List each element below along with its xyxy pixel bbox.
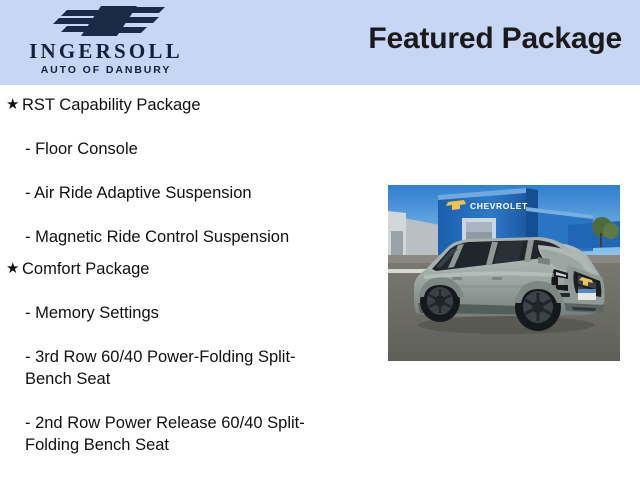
vehicle-photo: CHEVROLET xyxy=(388,185,620,361)
feature-item: - 2nd Row Power Release 60/40 Split-Fold… xyxy=(0,412,375,456)
content-area: ★ RST Capability Package - Floor Console… xyxy=(0,85,640,480)
page-title: Featured Package xyxy=(368,22,622,56)
star-bullet-icon: ★ xyxy=(0,94,22,116)
vehicle-photo-illustration: CHEVROLET xyxy=(388,185,620,361)
feature-item: - Air Ride Adaptive Suspension xyxy=(0,182,375,204)
star-bullet-icon: ★ xyxy=(0,258,22,280)
feature-item: - Floor Console xyxy=(0,138,375,160)
feature-group-label: Comfort Package xyxy=(22,258,375,280)
header-band: INGERSOLL AUTO OF DANBURY Featured Packa… xyxy=(0,0,640,85)
dealer-logo: INGERSOLL AUTO OF DANBURY xyxy=(6,2,206,84)
dealer-name: INGERSOLL xyxy=(6,39,206,63)
winged-speed-emblem-icon xyxy=(41,4,171,38)
svg-text:CHEVROLET: CHEVROLET xyxy=(470,201,528,211)
feature-item: - Magnetic Ride Control Suspension xyxy=(0,226,375,248)
feature-item-label: - Memory Settings xyxy=(22,302,375,324)
feature-item-label: - 2nd Row Power Release 60/40 Split-Fold… xyxy=(22,412,375,456)
feature-group-heading: ★ RST Capability Package xyxy=(0,94,375,116)
feature-group-heading: ★ Comfort Package xyxy=(0,258,375,280)
dealer-tagline: AUTO OF DANBURY xyxy=(6,64,206,77)
feature-item-label: - Magnetic Ride Control Suspension xyxy=(22,226,375,248)
feature-item-label: - Air Ride Adaptive Suspension xyxy=(22,182,375,204)
feature-list: ★ RST Capability Package - Floor Console… xyxy=(0,85,375,456)
feature-item-label: - 3rd Row 60/40 Power-Folding Split-Benc… xyxy=(22,346,375,390)
feature-item: - 3rd Row 60/40 Power-Folding Split-Benc… xyxy=(0,346,375,390)
feature-item-label: - Floor Console xyxy=(22,138,375,160)
feature-group-label: RST Capability Package xyxy=(22,94,375,116)
feature-item: - Memory Settings xyxy=(0,302,375,324)
